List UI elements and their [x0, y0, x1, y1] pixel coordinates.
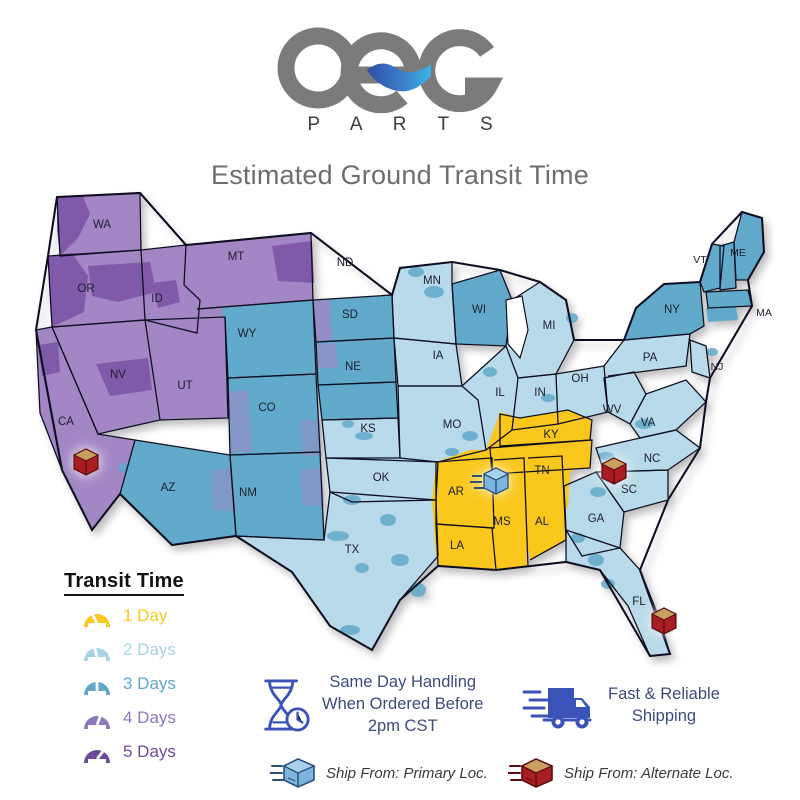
speckle	[483, 367, 497, 377]
legend-item-2days[interactable]: 2 Days	[64, 636, 279, 664]
svg-text:ME: ME	[730, 247, 746, 259]
ship-from-primary-label: Ship From: Primary Loc.	[326, 765, 488, 782]
speckle	[327, 531, 349, 541]
svg-text:TN: TN	[534, 465, 549, 477]
state-ME	[734, 212, 764, 280]
svg-text:NE: NE	[345, 361, 361, 373]
info-band: Same Day Handling When Ordered Before 2p…	[0, 668, 800, 748]
svg-text:WI: WI	[472, 304, 486, 316]
ship-from-alternate-label: Ship From: Alternate Loc.	[564, 765, 734, 782]
svg-text:OK: OK	[373, 472, 390, 484]
speckle	[408, 267, 424, 277]
svg-text:ND: ND	[337, 257, 354, 269]
svg-text:WV: WV	[603, 404, 622, 416]
legend-item-1day[interactable]: 1 Day	[64, 602, 279, 630]
svg-text:GA: GA	[588, 513, 605, 525]
page-title: Estimated Ground Transit Time	[0, 160, 800, 191]
svg-text:OR: OR	[77, 283, 94, 295]
state-AR	[436, 458, 494, 528]
svg-text:NC: NC	[644, 453, 661, 465]
svg-text:UT: UT	[177, 380, 192, 392]
svg-text:PA: PA	[643, 352, 658, 364]
red-box-icon	[652, 608, 676, 634]
handling-line-2: When Ordered Before	[322, 694, 483, 716]
speckle	[566, 313, 578, 323]
speckle	[343, 495, 361, 505]
same-day-handling-text: Same Day Handling When Ordered Before 2p…	[322, 672, 483, 737]
red-box-icon	[508, 756, 556, 790]
handling-line-1: Same Day Handling	[322, 672, 483, 694]
same-day-handling-block: Same Day Handling When Ordered Before 2p…	[258, 672, 483, 737]
svg-text:NM: NM	[239, 487, 257, 499]
svg-text:IL: IL	[495, 387, 505, 399]
fringe-co-w	[228, 390, 252, 452]
logo-subtitle: P A R T S	[0, 114, 800, 136]
hourglass-clock-icon	[258, 675, 312, 735]
svg-text:ID: ID	[151, 293, 163, 305]
svg-text:MI: MI	[543, 320, 556, 332]
speckle	[380, 514, 396, 526]
blue-box-icon	[270, 756, 318, 790]
svg-text:MT: MT	[228, 251, 245, 263]
svg-text:CA: CA	[58, 416, 74, 428]
svg-text:IA: IA	[433, 350, 444, 362]
legend-label-2days: 2 Days	[123, 640, 176, 660]
state-MA	[706, 290, 752, 308]
speckle	[195, 471, 213, 481]
svg-text:AR: AR	[448, 486, 464, 498]
fast-shipping-block: Fast & Reliable Shipping	[522, 680, 720, 732]
svg-text:AZ: AZ	[161, 482, 176, 494]
ship-from-primary[interactable]: Ship From: Primary Loc.	[270, 756, 488, 790]
transit-time-infographic: P A R T S Estimated Ground Transit Time	[0, 0, 800, 800]
ship-from-legend: Ship From: Primary Loc. Ship From: Alter…	[0, 752, 800, 796]
svg-text:AL: AL	[535, 516, 550, 528]
brand-logo: P A R T S	[0, 18, 800, 136]
speckle	[462, 431, 478, 441]
state-LA	[436, 524, 496, 570]
speckle	[588, 554, 604, 566]
svg-text:VT: VT	[693, 254, 707, 266]
patch-mt-east	[272, 241, 314, 283]
shipping-line-2: Shipping	[608, 706, 720, 728]
svg-text:NV: NV	[110, 369, 126, 381]
state-IA	[394, 338, 462, 386]
svg-text:MS: MS	[493, 516, 511, 528]
fast-shipping-text: Fast & Reliable Shipping	[608, 684, 720, 728]
speckle	[355, 563, 369, 573]
fringe-sd-w	[316, 343, 338, 368]
delivery-truck-icon	[522, 680, 596, 732]
speckle	[706, 348, 718, 356]
svg-text:LA: LA	[450, 540, 464, 552]
svg-text:MO: MO	[443, 419, 462, 431]
alternate-location-marker-ca[interactable]	[74, 449, 98, 475]
svg-text:VA: VA	[641, 417, 656, 429]
svg-text:IN: IN	[534, 387, 546, 399]
svg-text:TX: TX	[345, 544, 360, 556]
svg-text:SC: SC	[621, 484, 637, 496]
ship-from-alternate[interactable]: Ship From: Alternate Loc.	[508, 756, 734, 790]
svg-text:MA: MA	[756, 307, 772, 319]
speckle	[424, 286, 444, 298]
svg-text:KY: KY	[543, 429, 559, 441]
speckle	[590, 487, 606, 497]
red-box-icon	[602, 458, 626, 484]
shipping-line-1: Fast & Reliable	[608, 684, 720, 706]
legend-label-1day: 1 Day	[123, 606, 167, 626]
svg-text:WA: WA	[93, 219, 111, 231]
alternate-location-marker-sc[interactable]	[602, 458, 626, 484]
speckle	[342, 420, 354, 428]
red-box-icon	[74, 449, 98, 475]
svg-text:OH: OH	[571, 373, 588, 385]
svg-text:WY: WY	[238, 328, 257, 340]
svg-text:SD: SD	[342, 309, 358, 321]
handling-line-3: 2pm CST	[322, 716, 483, 738]
svg-text:NY: NY	[664, 304, 680, 316]
legend-heading: Transit Time	[64, 570, 184, 596]
gauge-icon	[82, 603, 112, 629]
svg-text:MN: MN	[423, 275, 441, 287]
svg-text:NJ: NJ	[711, 361, 724, 373]
gauge-icon	[82, 637, 112, 663]
svg-text:KS: KS	[360, 423, 376, 435]
state-NE	[318, 382, 398, 420]
svg-text:CO: CO	[258, 402, 275, 414]
speckle	[391, 554, 409, 566]
alternate-location-marker-fl[interactable]	[652, 608, 676, 634]
speckle	[445, 448, 459, 456]
svg-text:FL: FL	[632, 596, 646, 608]
oeg-logo-icon	[275, 18, 525, 118]
